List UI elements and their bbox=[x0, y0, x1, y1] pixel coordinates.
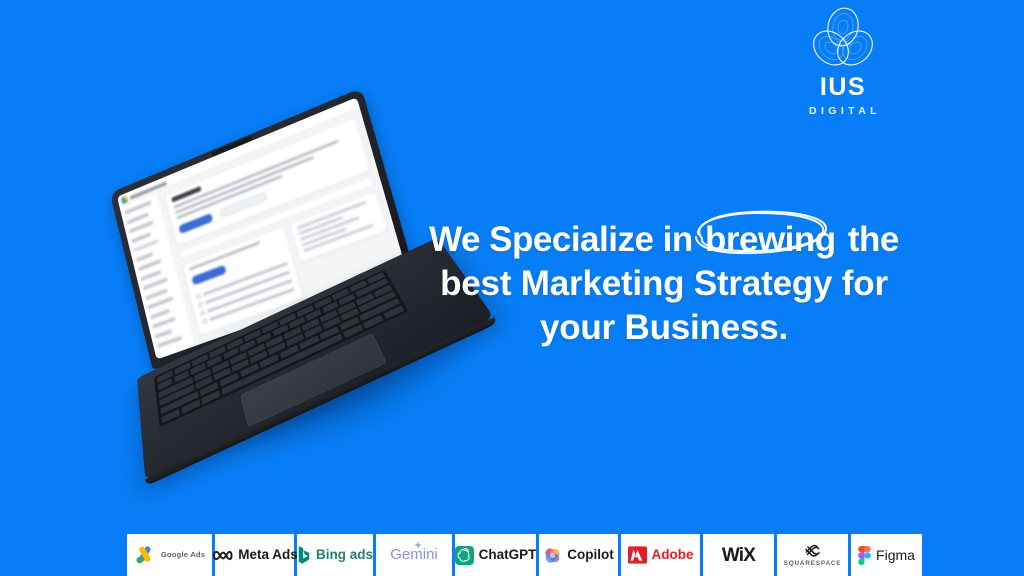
list-bullet-icon bbox=[200, 310, 206, 316]
wix-wordmark-icon: WiX bbox=[722, 546, 755, 565]
partner-label: ChatGPT bbox=[479, 548, 537, 562]
sidebar-item bbox=[133, 239, 159, 252]
figma-icon bbox=[858, 546, 871, 565]
partner-logo-strip: Google Ads Meta Ads Bing ads Gemini bbox=[127, 534, 922, 576]
partner-label: Figma bbox=[876, 548, 915, 562]
list-bullet-icon bbox=[202, 318, 208, 324]
openai-knot-icon bbox=[455, 546, 474, 565]
list-bullet-icon bbox=[196, 293, 202, 299]
headline-line-3: your Business. bbox=[404, 306, 924, 350]
partner-logo-gemini[interactable]: Gemini bbox=[376, 534, 452, 576]
partner-label: Meta Ads bbox=[238, 548, 298, 562]
sidebar-item bbox=[131, 232, 151, 243]
partner-label: Adobe bbox=[652, 548, 694, 562]
adobe-a-icon bbox=[628, 546, 647, 564]
sidebar-item bbox=[147, 296, 173, 309]
partner-label: Bing ads bbox=[316, 548, 373, 562]
partner-logo-chatgpt[interactable]: ChatGPT bbox=[455, 534, 536, 576]
sidebar-item bbox=[140, 269, 161, 281]
brand-logo: IUS DIGITAL bbox=[784, 6, 902, 117]
meta-infinity-icon bbox=[211, 548, 233, 563]
sidebar-item bbox=[150, 308, 170, 319]
partner-label: Google Ads bbox=[161, 551, 205, 559]
partner-logo-adobe[interactable]: Adobe bbox=[621, 534, 700, 576]
banner-canvas: IUS DIGITAL bbox=[0, 0, 1024, 576]
sidebar-item bbox=[136, 252, 154, 262]
sidebar-item bbox=[157, 336, 183, 349]
headline: We Specialize in brewing the best Market… bbox=[404, 218, 924, 350]
sidebar-item bbox=[152, 317, 176, 329]
list-bullet-icon bbox=[198, 302, 204, 308]
bing-b-icon bbox=[297, 545, 311, 565]
triskelion-wireframe-icon bbox=[807, 6, 879, 72]
partner-logo-figma[interactable]: Figma bbox=[851, 534, 922, 576]
squarespace-knot-icon bbox=[803, 542, 822, 559]
partner-logo-bing-ads[interactable]: Bing ads bbox=[297, 534, 373, 576]
headline-highlight-text: brewing bbox=[705, 220, 836, 259]
partner-logo-wix[interactable]: WiX bbox=[703, 534, 774, 576]
partner-logo-google-ads[interactable]: Google Ads bbox=[127, 534, 212, 576]
partner-label: Copilot bbox=[567, 548, 614, 562]
google-ads-icon bbox=[134, 544, 156, 566]
headline-line-1-after: the bbox=[839, 220, 899, 259]
brand-subtitle: DIGITAL bbox=[805, 106, 881, 117]
sidebar-item bbox=[129, 220, 154, 233]
partner-logo-copilot[interactable]: Copilot bbox=[539, 534, 618, 576]
brand-name: IUS bbox=[820, 75, 866, 100]
sidebar-item bbox=[154, 328, 172, 338]
partner-label: SQUARESPACE bbox=[784, 561, 842, 567]
partner-logo-meta-ads[interactable]: Meta Ads bbox=[215, 534, 294, 576]
headline-line-1-before: We Specialize in bbox=[429, 220, 702, 259]
copilot-petal-icon bbox=[543, 546, 562, 565]
headline-line-2: best Marketing Strategy for bbox=[404, 262, 924, 306]
gemini-sparkle-icon bbox=[414, 541, 422, 549]
headline-highlight-word: brewing bbox=[702, 218, 839, 262]
headline-line-1: We Specialize in brewing the bbox=[404, 218, 924, 262]
partner-logo-squarespace[interactable]: SQUARESPACE bbox=[777, 534, 848, 576]
